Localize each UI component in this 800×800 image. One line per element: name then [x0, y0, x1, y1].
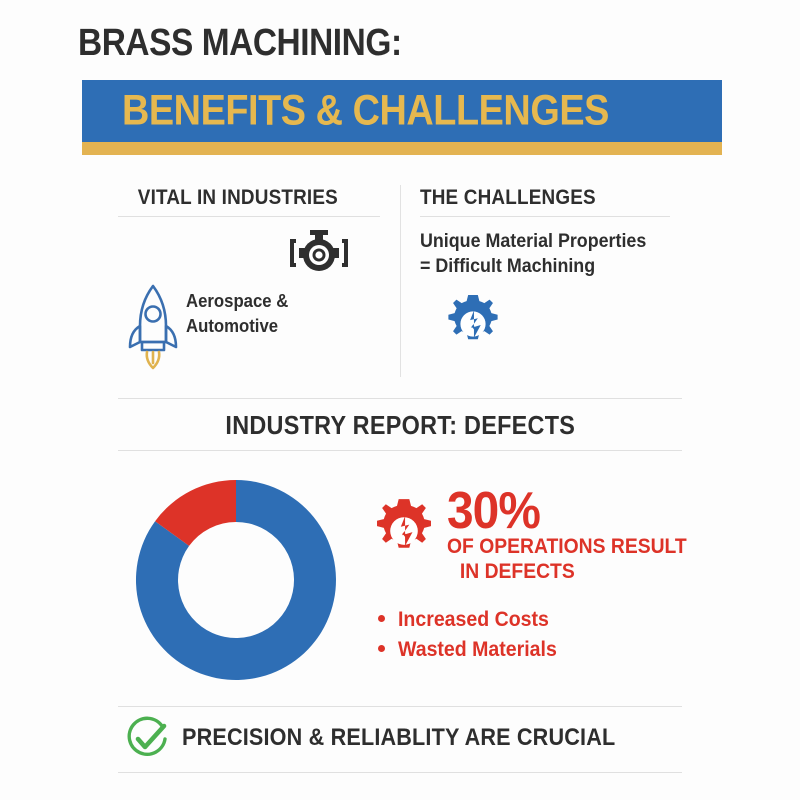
- column-heading-rule: [118, 216, 380, 217]
- column-heading: VITAL IN INDUSTRIES: [118, 185, 354, 211]
- bullet-dot-icon: [378, 645, 385, 652]
- valve-icon: [288, 229, 350, 282]
- banner-underbar: [82, 142, 722, 155]
- stat-description-line2: IN DEFECTS: [447, 559, 687, 584]
- stat-description: OF OPERATIONS RESULT IN DEFECTS: [447, 534, 708, 584]
- industries-label-line1: Aerospace &: [186, 289, 288, 314]
- page-title: BRASS MACHINING:: [78, 22, 402, 65]
- footer-rule-top: [118, 706, 682, 707]
- footer-rule-bottom: [118, 772, 682, 773]
- bullet-dot-icon: [378, 615, 385, 622]
- report-title: INDUSTRY REPORT: DEFECTS: [0, 410, 800, 441]
- defects-donut-chart: [128, 472, 344, 693]
- footer-text: PRECISION & RELIABLITY ARE CRUCIAL: [182, 724, 664, 752]
- check-circle-icon: [124, 716, 170, 767]
- list-item: Wasted Materials: [378, 638, 569, 662]
- column-body: Aerospace & Automotive: [118, 227, 380, 367]
- title-banner: BENEFITS & CHALLENGES: [82, 80, 722, 142]
- defect-consequences-list: Increased Costs Wasted Materials: [378, 608, 569, 668]
- challenges-text-line1: Unique Material Properties: [420, 229, 676, 254]
- banner-title: BENEFITS & CHALLENGES: [122, 87, 609, 136]
- rocket-icon: [124, 282, 182, 375]
- industries-label-line2: Automotive: [186, 314, 288, 339]
- column-the-challenges: THE CHALLENGES Unique Material Propertie…: [420, 185, 692, 360]
- report-rule-top: [118, 398, 682, 399]
- challenges-text-line2: = Difficult Machining: [420, 254, 676, 279]
- list-item-label: Wasted Materials: [398, 638, 557, 662]
- industries-label: Aerospace & Automotive: [186, 289, 288, 339]
- two-column-section: VITAL IN INDUSTRIES: [0, 185, 800, 380]
- column-vital-in-industries: VITAL IN INDUSTRIES: [118, 185, 380, 367]
- broken-gear-icon: [442, 293, 692, 360]
- stat-description-line1: OF OPERATIONS RESULT: [447, 534, 687, 559]
- list-item-label: Increased Costs: [398, 608, 549, 632]
- challenges-text: Unique Material Properties = Difficult M…: [420, 229, 676, 279]
- broken-gear-icon-red: [370, 497, 438, 570]
- report-rule-bottom: [118, 450, 682, 451]
- list-item: Increased Costs: [378, 608, 569, 632]
- column-divider: [400, 185, 401, 377]
- column-heading: THE CHALLENGES: [420, 185, 665, 211]
- infographic-page: BRASS MACHINING: BENEFITS & CHALLENGES V…: [0, 0, 800, 800]
- column-heading-rule: [420, 216, 670, 217]
- stat-percentage: 30%: [447, 486, 548, 536]
